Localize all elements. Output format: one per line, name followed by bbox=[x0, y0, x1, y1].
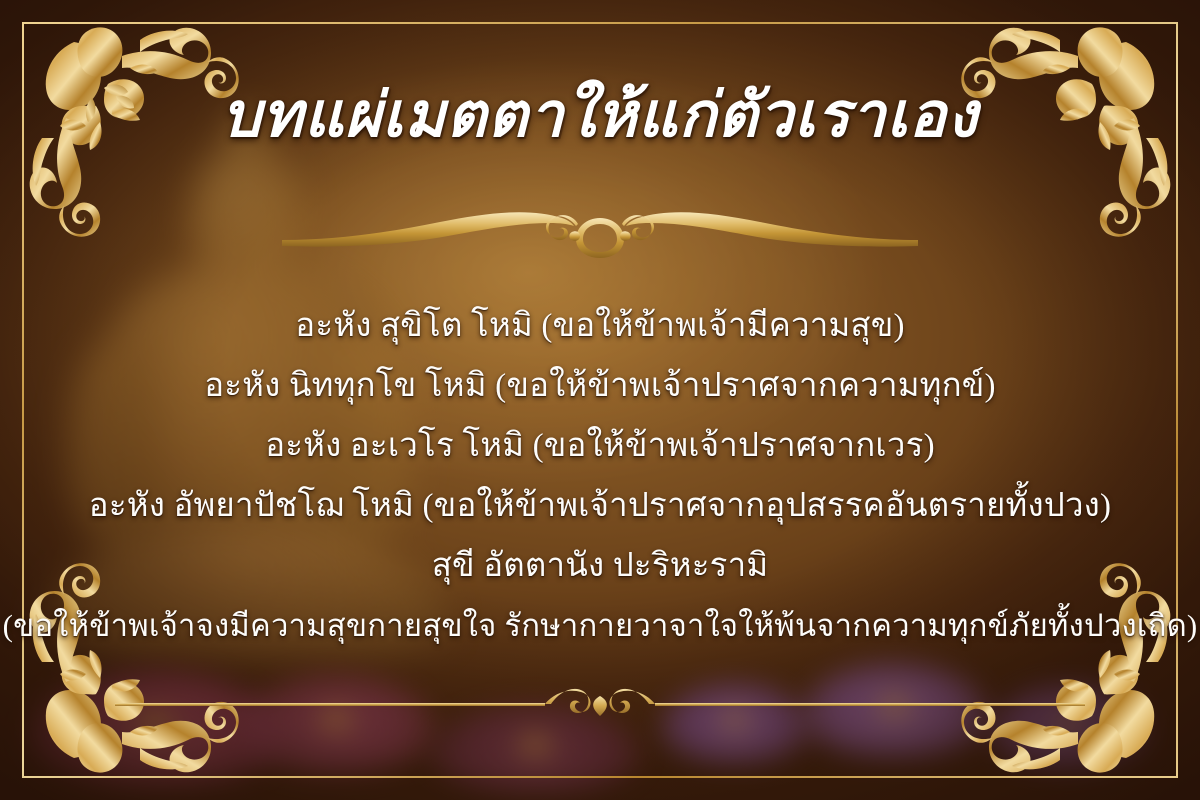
buddha-head bbox=[188, 140, 304, 280]
page-title: บทแผ่เมตตาให้แก่ตัวเราเอง bbox=[0, 84, 1200, 149]
verse-line: (ขอให้ข้าพเจ้าจงมีความสุขกายสุขใจ รักษาก… bbox=[0, 596, 1200, 656]
verse-line: สุขี อัตตานัง ปะริหะรามิ bbox=[0, 536, 1200, 596]
verse-line: อะหัง สุขิโต โหมิ (ขอให้ข้าพเจ้ามีความสุ… bbox=[0, 296, 1200, 356]
verse-line: อะหัง อะเวโร โหมิ (ขอให้ข้าพเจ้าปราศจากเ… bbox=[0, 416, 1200, 476]
merit-blessing-poster: บทแผ่เมตตาให้แก่ตัวเราเอง bbox=[0, 0, 1200, 800]
verse-line: อะหัง อัพยาปัชโฌ โหมิ (ขอให้ข้าพเจ้าปราศ… bbox=[0, 476, 1200, 536]
verse-block: อะหัง สุขิโต โหมิ (ขอให้ข้าพเจ้ามีความสุ… bbox=[0, 296, 1200, 656]
verse-line: อะหัง นิททุกโข โหมิ (ขอให้ข้าพเจ้าปราศจา… bbox=[0, 356, 1200, 416]
